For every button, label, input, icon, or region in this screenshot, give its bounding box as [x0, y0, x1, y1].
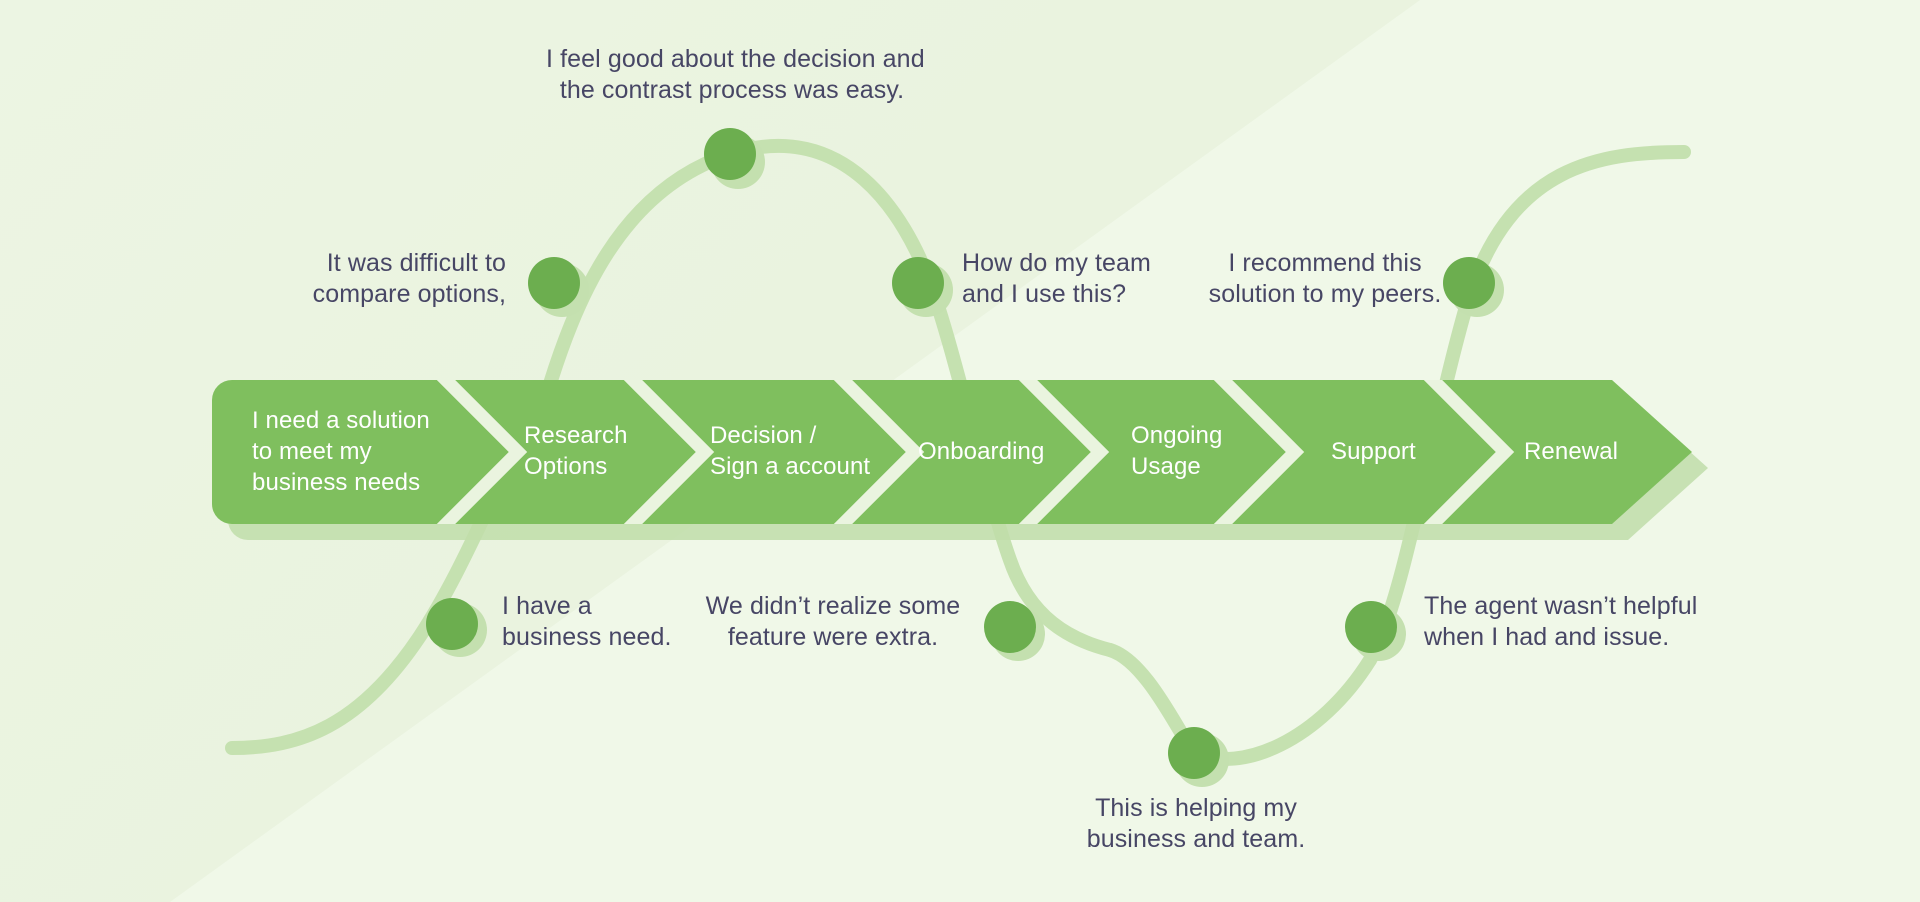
- touchpoint-dot-agent-unhelpful[interactable]: [1345, 601, 1397, 653]
- stage-label-onboarding[interactable]: Onboarding: [918, 436, 1118, 467]
- stage-label-renewal[interactable]: Renewal: [1524, 436, 1684, 467]
- touchpoint-dot-compare-options[interactable]: [528, 257, 580, 309]
- stage-label-usage[interactable]: Ongoing Usage: [1131, 420, 1311, 482]
- note-recommend: I recommend this solution to my peers.: [1180, 248, 1470, 310]
- note-business-need: I have a business need.: [502, 591, 732, 653]
- stage-label-decision[interactable]: Decision / Sign a account: [710, 420, 930, 482]
- note-compare-difficult: It was difficult to compare options,: [250, 248, 506, 310]
- touchpoint-dot-team-usage[interactable]: [892, 257, 944, 309]
- note-helping-business: This is helping my business and team.: [1072, 793, 1320, 855]
- touchpoint-dot-extra-features[interactable]: [984, 601, 1036, 653]
- stage-label-research[interactable]: Research Options: [524, 420, 704, 482]
- touchpoint-dot-business-need[interactable]: [426, 598, 478, 650]
- stage-label-need[interactable]: I need a solution to meet my business ne…: [252, 405, 452, 498]
- touchpoint-dot-helping-business[interactable]: [1168, 727, 1220, 779]
- note-agent-unhelpful: The agent wasn’t helpful when I had and …: [1424, 591, 1724, 653]
- touchpoint-dot-decision-positive[interactable]: [704, 128, 756, 180]
- note-decision-positive: I feel good about the decision and the c…: [546, 44, 918, 106]
- note-extra-features: We didn’t realize some feature were extr…: [700, 591, 966, 653]
- stage-label-support[interactable]: Support: [1331, 436, 1491, 467]
- journey-map-diagram: I feel good about the decision and the c…: [0, 0, 1920, 902]
